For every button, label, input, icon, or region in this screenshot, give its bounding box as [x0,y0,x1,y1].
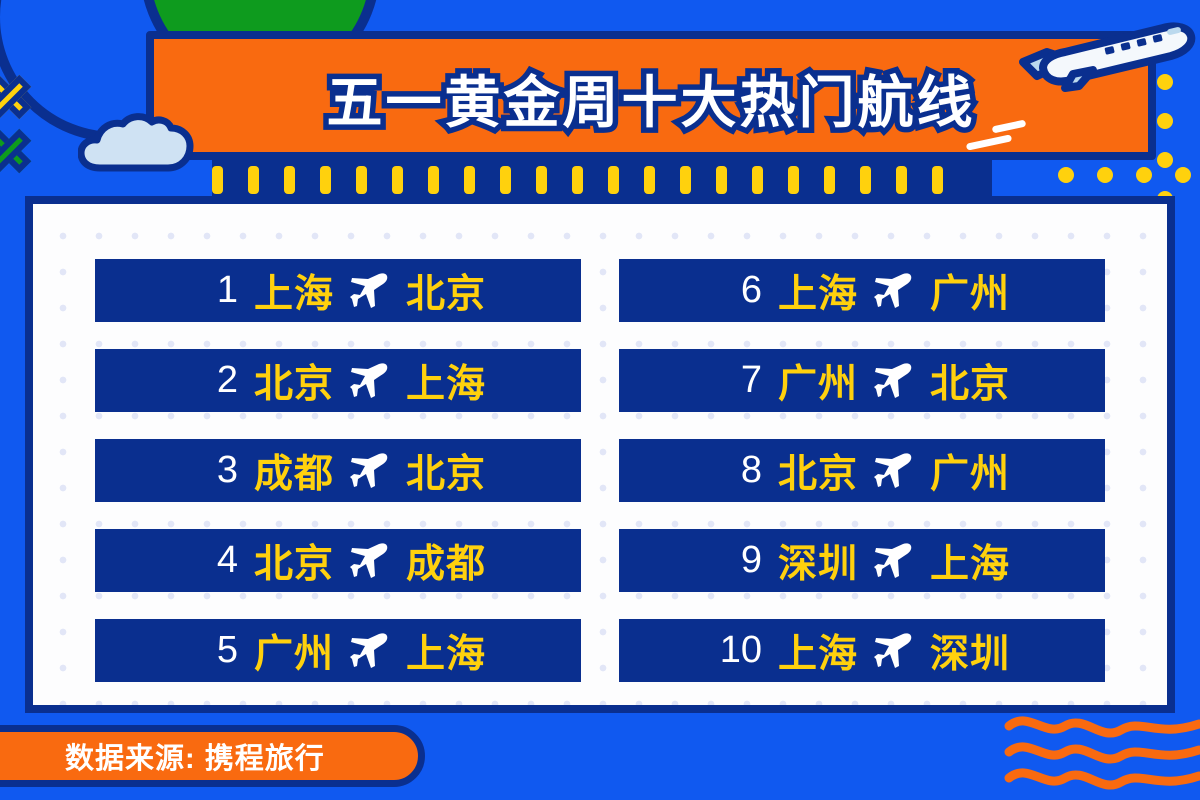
route-row[interactable]: 4 北京 成都 [95,529,581,592]
route-destination: 广州 [930,263,1010,319]
data-source-label: 数据来源: 携程旅行 [65,735,325,777]
route-rank: 9 [714,539,762,582]
airplane-icon [874,363,914,399]
route-destination: 深圳 [930,623,1010,679]
ticket-perforation-strip [212,160,992,200]
route-rank: 5 [190,629,238,672]
route-origin: 成都 [254,443,334,499]
speed-lines-decoration [966,121,1038,151]
dot-row-decoration [1058,167,1200,183]
cross-icon-yellow [0,74,32,120]
airplane-icon [874,633,914,669]
route-origin: 上海 [778,263,858,319]
route-row[interactable]: 10 上海 深圳 [619,619,1105,682]
route-row[interactable]: 2 北京 上海 [95,349,581,412]
airplane-icon [350,543,390,579]
header-banner: 五一黄金周十大热门航线 [146,31,1156,160]
route-origin: 上海 [254,263,334,319]
route-origin: 北京 [778,443,858,499]
routes-grid: 1 上海 北京 6 上海 广州 2 北京 上海 7 广州 北京 [33,204,1167,705]
route-rank: 10 [714,629,762,672]
cloud-icon [78,110,206,172]
airplane-taking-off-icon [1013,14,1200,94]
route-rank: 7 [714,359,762,402]
route-origin: 广州 [254,623,334,679]
route-row[interactable]: 7 广州 北京 [619,349,1105,412]
airplane-icon [350,633,390,669]
routes-panel: 1 上海 北京 6 上海 广州 2 北京 上海 7 广州 北京 [25,196,1175,713]
route-destination: 广州 [930,443,1010,499]
route-row[interactable]: 5 广州 上海 [95,619,581,682]
route-rank: 4 [190,539,238,582]
route-row[interactable]: 8 北京 广州 [619,439,1105,502]
wave-decoration [1003,712,1200,790]
route-rank: 1 [190,269,238,312]
route-destination: 上海 [406,623,486,679]
route-rank: 8 [714,449,762,492]
data-source-badge: 数据来源: 携程旅行 [0,725,425,787]
route-rank: 2 [190,359,238,402]
airplane-icon [350,273,390,309]
airplane-icon [350,363,390,399]
cross-icon-green [0,128,32,174]
route-origin: 北京 [254,353,334,409]
route-destination: 成都 [406,533,486,589]
route-origin: 广州 [778,353,858,409]
airplane-icon [350,453,390,489]
airplane-icon [874,453,914,489]
route-destination: 上海 [406,353,486,409]
route-destination: 北京 [406,443,486,499]
airplane-icon [874,273,914,309]
route-origin: 深圳 [778,533,858,589]
route-row[interactable]: 6 上海 广州 [619,259,1105,322]
route-rank: 6 [714,269,762,312]
route-origin: 北京 [254,533,334,589]
route-destination: 北京 [930,353,1010,409]
route-origin: 上海 [778,623,858,679]
route-destination: 上海 [930,533,1010,589]
route-row[interactable]: 9 深圳 上海 [619,529,1105,592]
route-destination: 北京 [406,263,486,319]
route-row[interactable]: 1 上海 北京 [95,259,581,322]
airplane-icon [874,543,914,579]
route-row[interactable]: 3 成都 北京 [95,439,581,502]
route-rank: 3 [190,449,238,492]
